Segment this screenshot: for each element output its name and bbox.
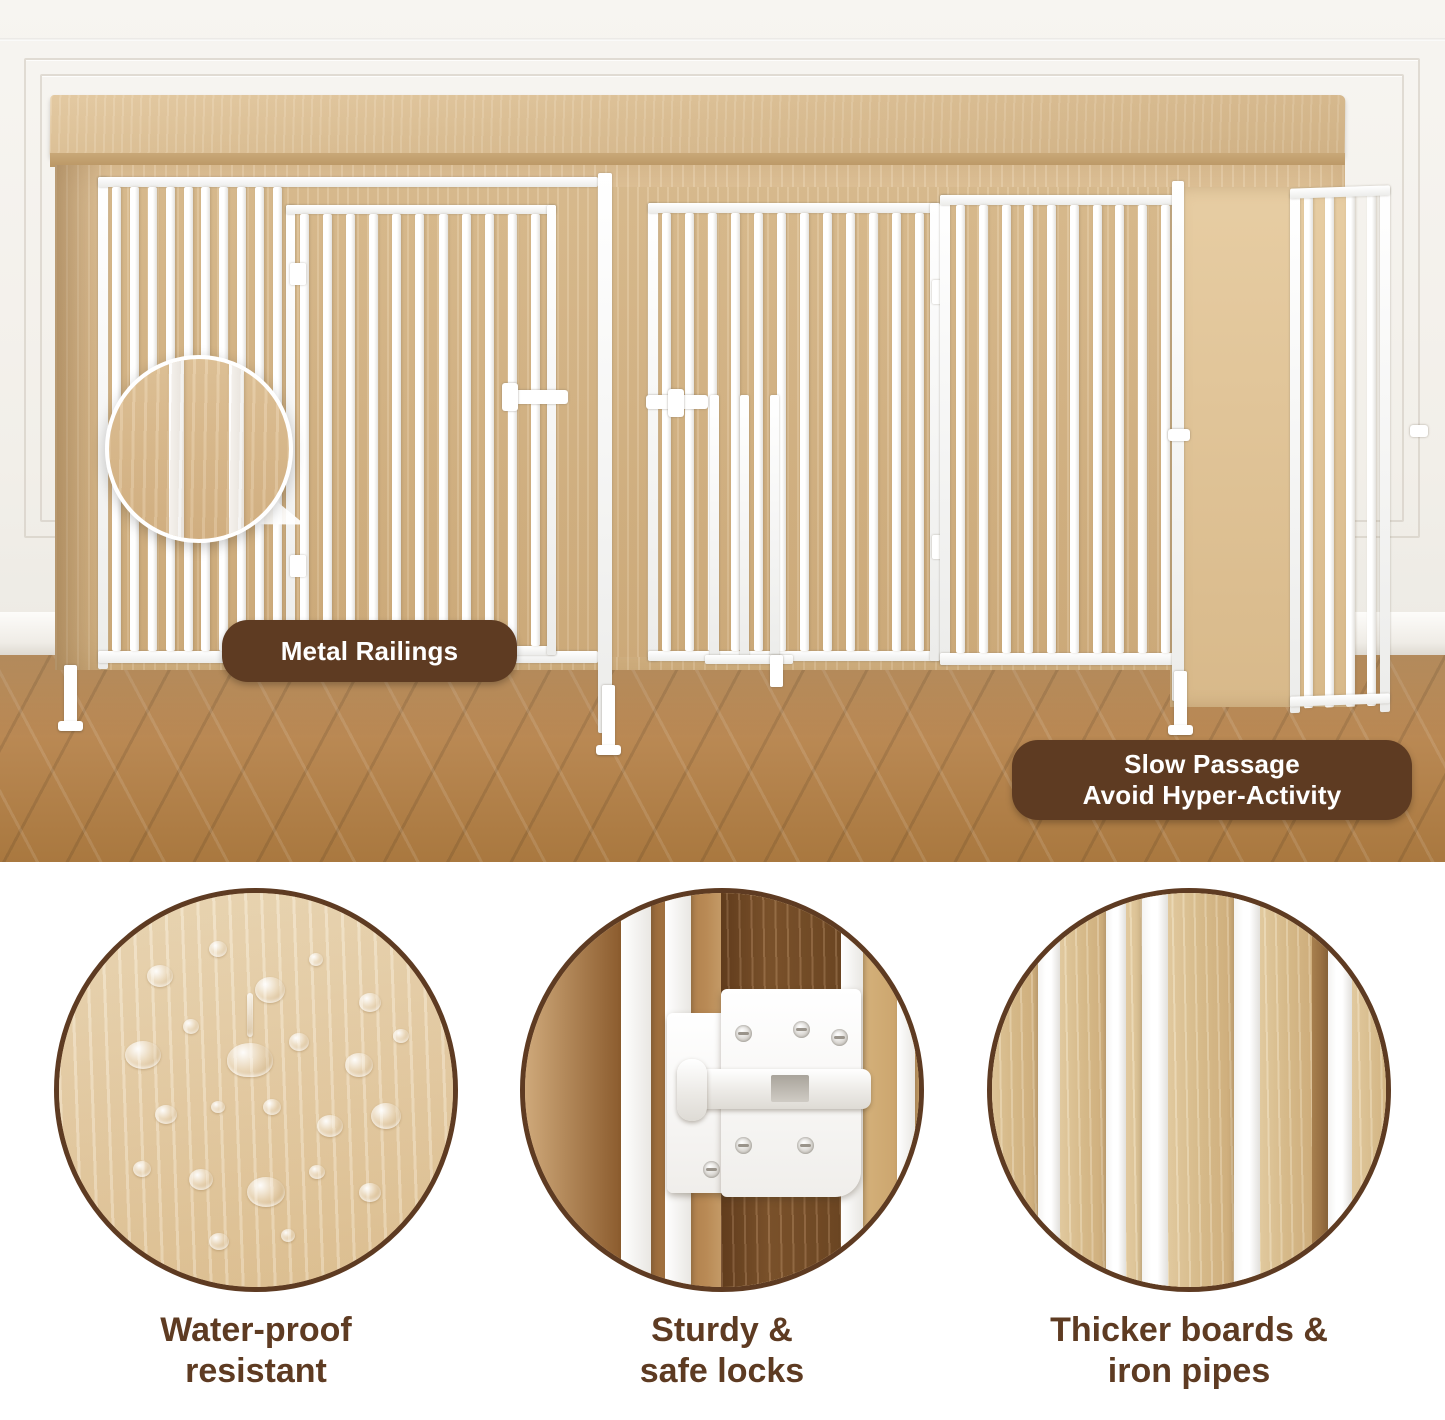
shadow-gap (1312, 888, 1328, 1292)
wood-board (1352, 888, 1391, 1292)
foot-right (1168, 725, 1193, 735)
door-mid-rail-bottom[interactable] (648, 651, 940, 661)
feature-thicker-boards-caption: Thicker boards & iron pipes (967, 1310, 1411, 1393)
iron-pipe (1106, 888, 1126, 1292)
callout-slow-passage: Slow Passage Avoid Hyper-Activity (1012, 740, 1412, 820)
screw (831, 1029, 848, 1046)
foot-front-left (58, 721, 83, 731)
latch-bolt-gap (771, 1075, 809, 1102)
callout-slow-passage-line1: Slow Passage (1083, 749, 1342, 780)
latch-bolt-knob (677, 1059, 707, 1121)
center-divider-post (598, 173, 612, 733)
caption-line-2: safe locks (500, 1351, 944, 1392)
water-droplet (309, 953, 323, 966)
water-droplet (227, 1043, 273, 1077)
magnifier-bar-1 (169, 355, 184, 543)
callout-metal-railings-text: Metal Railings (281, 636, 459, 667)
magnifier-metal-railing (105, 355, 293, 543)
water-droplet (155, 1105, 177, 1124)
feature-safe-locks-caption: Sturdy & safe locks (500, 1310, 944, 1393)
frame-post-left (98, 177, 108, 669)
wood-texture (59, 893, 453, 1287)
feature-thicker-boards-image (987, 888, 1391, 1292)
feature-thicker-boards: Thicker boards & iron pipes (967, 888, 1411, 1393)
water-droplet (255, 977, 285, 1003)
screw (797, 1137, 814, 1154)
screw (735, 1137, 752, 1154)
caption-line-1: Water-proof (34, 1310, 478, 1351)
wood-board (1060, 888, 1106, 1292)
iron-pipe (1328, 888, 1352, 1292)
leg-front-left (64, 665, 77, 723)
kennel-top-board (50, 95, 1346, 157)
callout-slow-passage-line2: Avoid Hyper-Activity (1083, 780, 1342, 811)
right-corner-post (1172, 181, 1184, 701)
door-left-rail-top[interactable] (286, 205, 556, 214)
iron-pipe (1234, 888, 1260, 1292)
latch-left-keeper[interactable] (502, 383, 518, 411)
frame-rail-top-left (98, 177, 598, 187)
screw (735, 1025, 752, 1042)
door-right-rail-bottom[interactable] (940, 653, 1180, 665)
screw (793, 1021, 810, 1038)
feature-safe-locks-image (520, 888, 924, 1292)
hinge-left-bottom (290, 555, 306, 577)
foot-center (596, 745, 621, 755)
leg-right (1174, 671, 1187, 727)
bars-left-door (300, 214, 540, 646)
water-trail (247, 993, 253, 1037)
water-droplet (147, 965, 173, 987)
feature-water-proof-image (54, 888, 458, 1292)
door-right-rail-top[interactable] (940, 195, 1180, 205)
screw (703, 1161, 720, 1178)
caption-line-1: Thicker boards & (967, 1310, 1411, 1351)
feature-water-proof-caption: Water-proof resistant (34, 1310, 478, 1393)
water-droplet (209, 1233, 229, 1250)
inner-divider-bar-3 (770, 395, 779, 661)
water-droplet (281, 1229, 295, 1242)
door-left-stile-right[interactable] (547, 205, 556, 655)
water-droplet (289, 1033, 309, 1051)
inner-divider-bar-2 (740, 395, 749, 661)
water-droplet (183, 1019, 199, 1034)
latch-mid-keeper[interactable] (668, 389, 684, 417)
door-right-stile-left[interactable] (940, 195, 950, 665)
hero-product-scene: Metal Railings Slow Passage Avoid Hyper-… (0, 0, 1445, 862)
water-droplet (345, 1053, 373, 1077)
latch-frame-bar-right2 (897, 888, 915, 1292)
screenshot-root: Metal Railings Slow Passage Avoid Hyper-… (0, 0, 1445, 1420)
latch-left-door[interactable] (510, 390, 568, 404)
water-droplet (371, 1103, 401, 1129)
latch-open-gate-catch[interactable] (1410, 425, 1428, 437)
water-droplet (133, 1161, 151, 1177)
leg-center (602, 685, 615, 747)
caption-line-1: Sturdy & (500, 1310, 944, 1351)
water-droplet (359, 993, 381, 1012)
caption-line-2: iron pipes (967, 1351, 1411, 1392)
wall-moulding-line-top (0, 38, 1445, 41)
inner-divider-bar-1 (710, 395, 719, 661)
leg-rear-center (770, 655, 783, 687)
door-mid-stile-right[interactable] (930, 203, 940, 661)
feature-row: Water-proof resistant (0, 862, 1445, 1420)
water-droplet (393, 1029, 409, 1043)
callout-metal-railings: Metal Railings (222, 620, 517, 682)
hinge-left-top (290, 263, 306, 285)
caption-line-2: resistant (34, 1351, 478, 1392)
door-mid-rail-top[interactable] (648, 203, 940, 213)
latch-open-gate[interactable] (1168, 429, 1190, 441)
iron-pipe (1038, 888, 1060, 1292)
bars-right-door (956, 205, 1170, 653)
bars-open-gate (1304, 194, 1376, 709)
feature-water-proof: Water-proof resistant (34, 888, 478, 1393)
feature-safe-locks: Sturdy & safe locks (500, 888, 944, 1393)
wood-board (1168, 888, 1234, 1292)
door-mid-stile-left[interactable] (648, 203, 658, 661)
water-droplet (309, 1165, 325, 1179)
water-droplet (247, 1177, 285, 1207)
water-droplet (359, 1183, 381, 1202)
water-droplet (189, 1169, 213, 1190)
water-droplet (211, 1101, 225, 1113)
iron-pipe (1142, 888, 1168, 1292)
water-droplet (317, 1115, 343, 1137)
latch-frame-bar-left (621, 888, 651, 1292)
water-droplet (209, 941, 227, 957)
water-droplet (125, 1041, 161, 1069)
water-droplet (263, 1099, 281, 1115)
open-gate-stile-left[interactable] (1290, 193, 1300, 713)
wood-board (1260, 888, 1312, 1292)
bars-mid-door (662, 213, 924, 651)
wood-board (987, 888, 1038, 1292)
open-gate-stile-right[interactable] (1380, 187, 1390, 712)
magnifier-bar-2 (229, 355, 244, 543)
